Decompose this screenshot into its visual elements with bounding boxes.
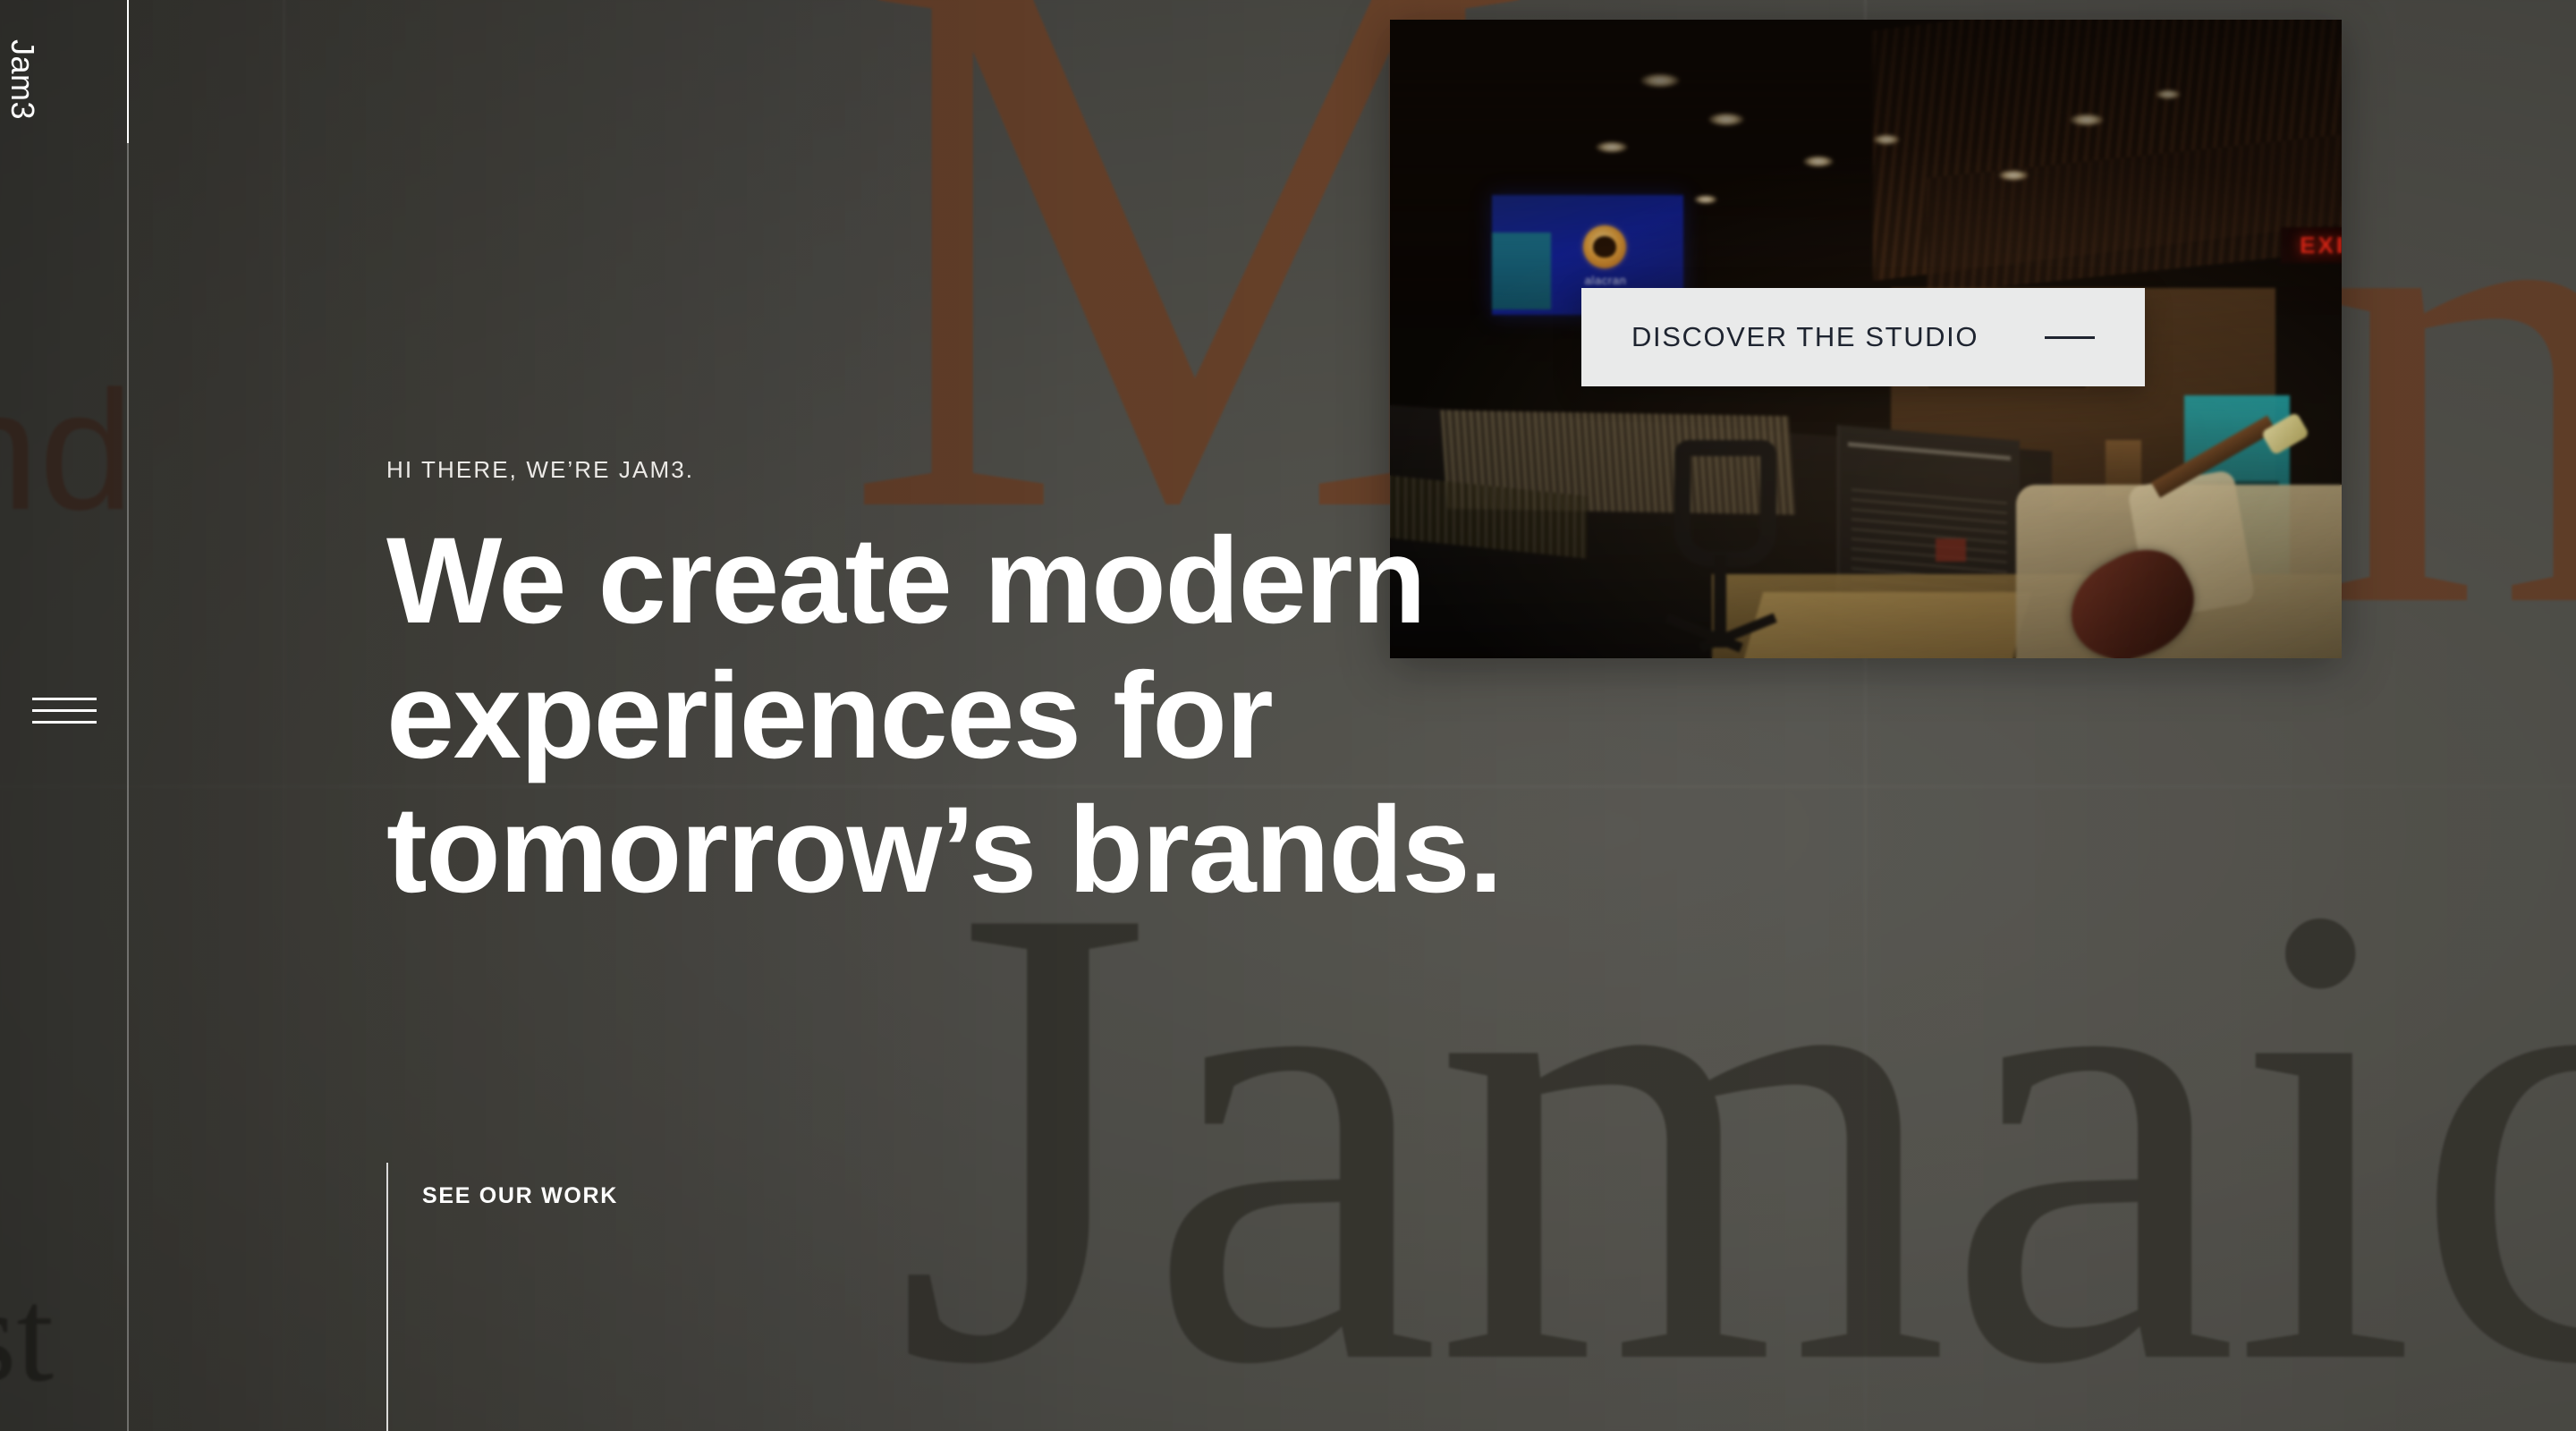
hamburger-bar [32, 698, 97, 700]
discover-the-studio-label: DISCOVER THE STUDIO [1631, 321, 2045, 353]
discover-the-studio-button[interactable]: DISCOVER THE STUDIO [1581, 288, 2145, 386]
hero-eyebrow: HI THERE, WE’RE JAM3. [386, 456, 1502, 484]
hamburger-menu-icon[interactable] [32, 698, 97, 724]
headline-line: We create modern [386, 514, 1502, 649]
jam3-logo[interactable]: Jam3 [4, 39, 41, 120]
rail-divider-top [127, 0, 129, 143]
dash-icon [2045, 336, 2095, 339]
hamburger-bar [32, 709, 97, 712]
headline-line: tomorrow’s brands. [386, 783, 1502, 919]
page-title: We create modern experiences for tomorro… [386, 514, 1502, 919]
headline-line: experiences for [386, 649, 1502, 784]
rail-divider [127, 143, 129, 1431]
see-our-work-rule [386, 1163, 388, 1431]
left-rail: Jam3 [0, 0, 128, 1431]
hero-page: M n Jamaic nd st [0, 0, 2576, 1431]
see-our-work-link[interactable]: SEE OUR WORK [422, 1183, 618, 1209]
hero-copy: HI THERE, WE’RE JAM3. We create modern e… [386, 456, 1502, 919]
hamburger-bar [32, 721, 97, 724]
